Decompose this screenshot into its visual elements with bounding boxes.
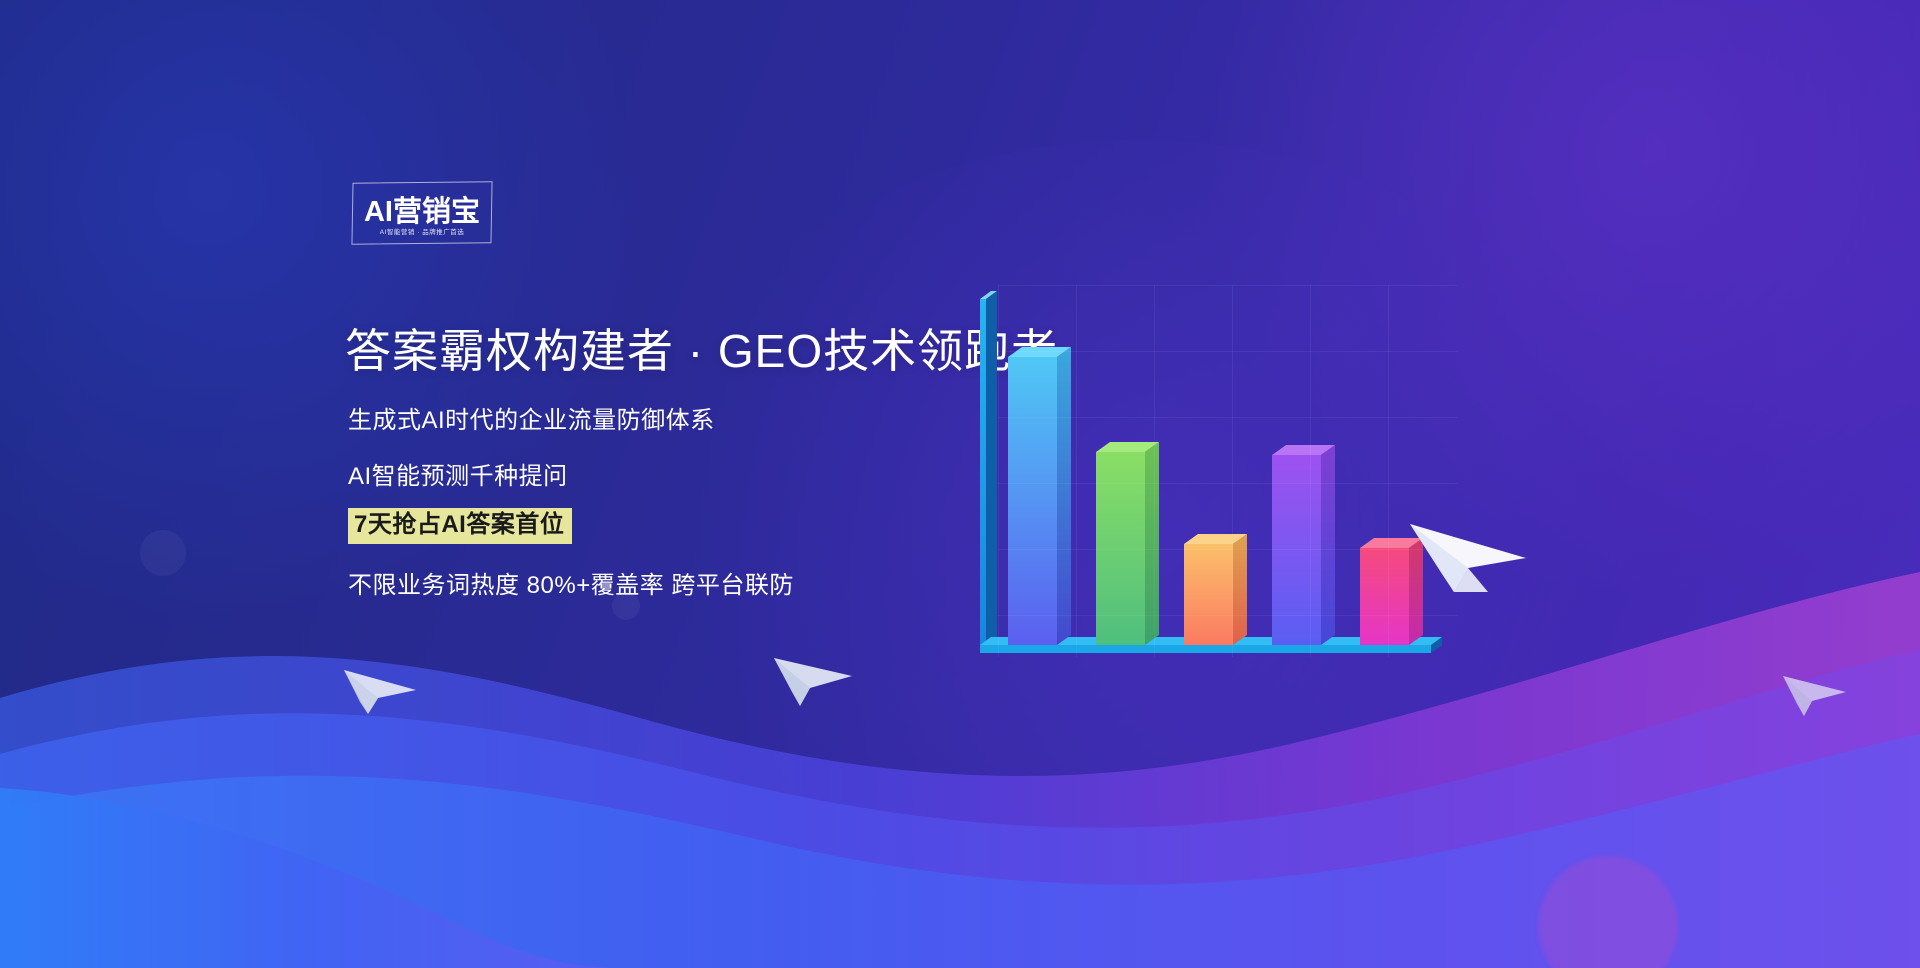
logo-tagline: AI智能营销 · 品牌推广首选 — [380, 229, 464, 235]
paper-plane-icon — [1404, 506, 1534, 616]
paper-plane-icon — [770, 648, 856, 720]
chart-gridlines — [998, 285, 1458, 657]
page-title: 答案霸权构建者 · GEO技术领跑者 — [345, 315, 1058, 381]
hero-highlight-badge: 7天抢占AI答案首位 — [348, 508, 572, 544]
bar-chart-illustration — [960, 285, 1480, 685]
hero-subline-2: AI智能预测千种提问 — [348, 456, 568, 491]
hero-banner: AI营销宝 AI智能营销 · 品牌推广首选 答案霸权构建者 · GEO技术领跑者… — [0, 0, 1920, 968]
paper-plane-icon — [1780, 668, 1850, 728]
hero-subline-1: 生成式AI时代的企业流量防御体系 — [348, 400, 715, 435]
logo-text: AI营销宝 — [364, 198, 480, 227]
paper-plane-icon — [340, 660, 420, 728]
brand-logo[interactable]: AI营销宝 AI智能营销 · 品牌推广首选 — [352, 182, 492, 244]
chart-y-axis — [980, 291, 997, 645]
hero-subline-4: 不限业务词热度 80%+覆盖率 跨平台联防 — [348, 565, 794, 600]
